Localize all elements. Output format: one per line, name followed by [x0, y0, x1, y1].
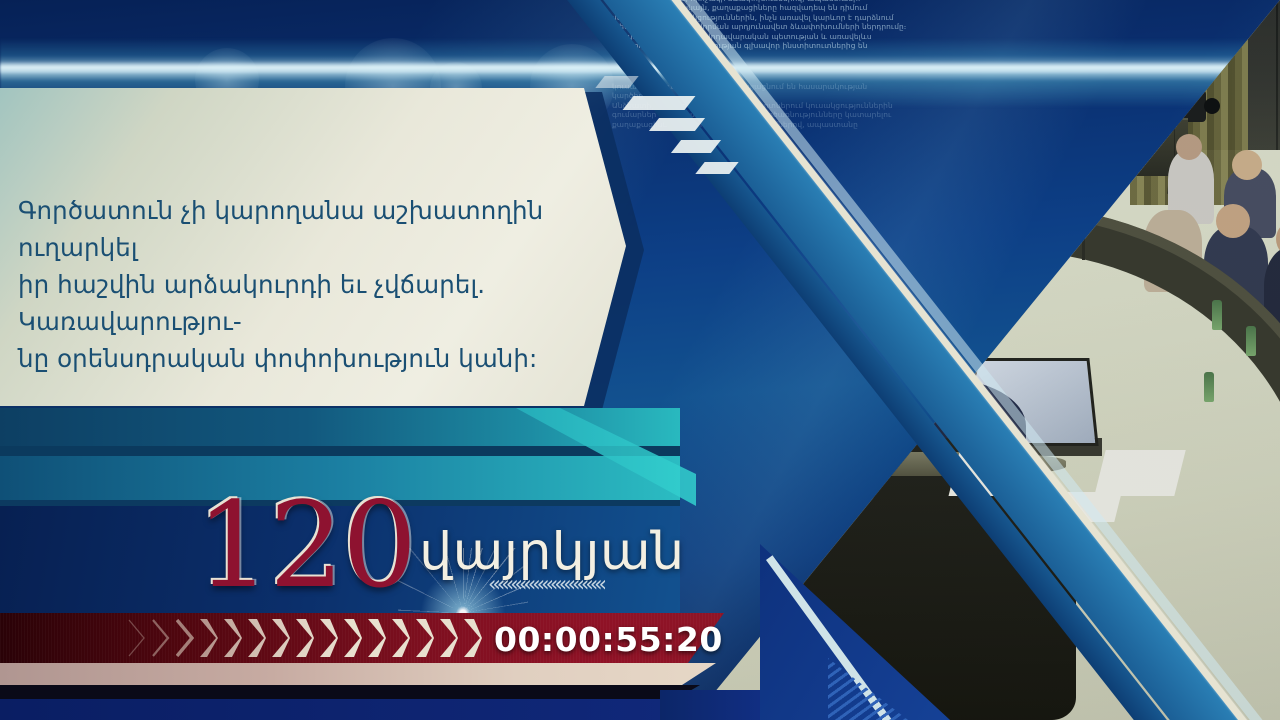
chevron-icon [464, 619, 482, 657]
timecode-display: 00:00:55:20 [494, 618, 714, 660]
chevron-icon [320, 619, 338, 657]
dash-stripe [623, 96, 696, 110]
headline-text: Գործատուն չի կարողանա աշխատողին ուղարկել… [18, 192, 618, 377]
bottom-blue-strip [0, 699, 690, 720]
bottom-pale-strip [0, 663, 716, 685]
chevron-row [128, 613, 488, 663]
logo-trail-chevrons: ««««««««««««« [488, 572, 664, 598]
chevron-icon [440, 619, 458, 657]
accent-band [0, 446, 680, 456]
chevron-icon [272, 619, 290, 657]
chevron-icon [368, 619, 386, 657]
bottom-dark-strip [0, 685, 700, 699]
chevron-icon [296, 619, 314, 657]
chevron-icon [344, 619, 362, 657]
chevron-icon [248, 619, 266, 657]
chevron-icon [416, 619, 434, 657]
chevron-icon [392, 619, 410, 657]
broadcast-lower-third-graphic: քաղաքացիները և, որոշակի ձևափոխումներով, … [0, 0, 1280, 720]
chevron-icon [224, 619, 242, 657]
chevron-icon [176, 619, 194, 657]
program-number: 120 [196, 495, 415, 596]
chevron-icon [152, 619, 170, 657]
chevron-icon [200, 619, 218, 657]
chevron-icon [128, 619, 146, 657]
